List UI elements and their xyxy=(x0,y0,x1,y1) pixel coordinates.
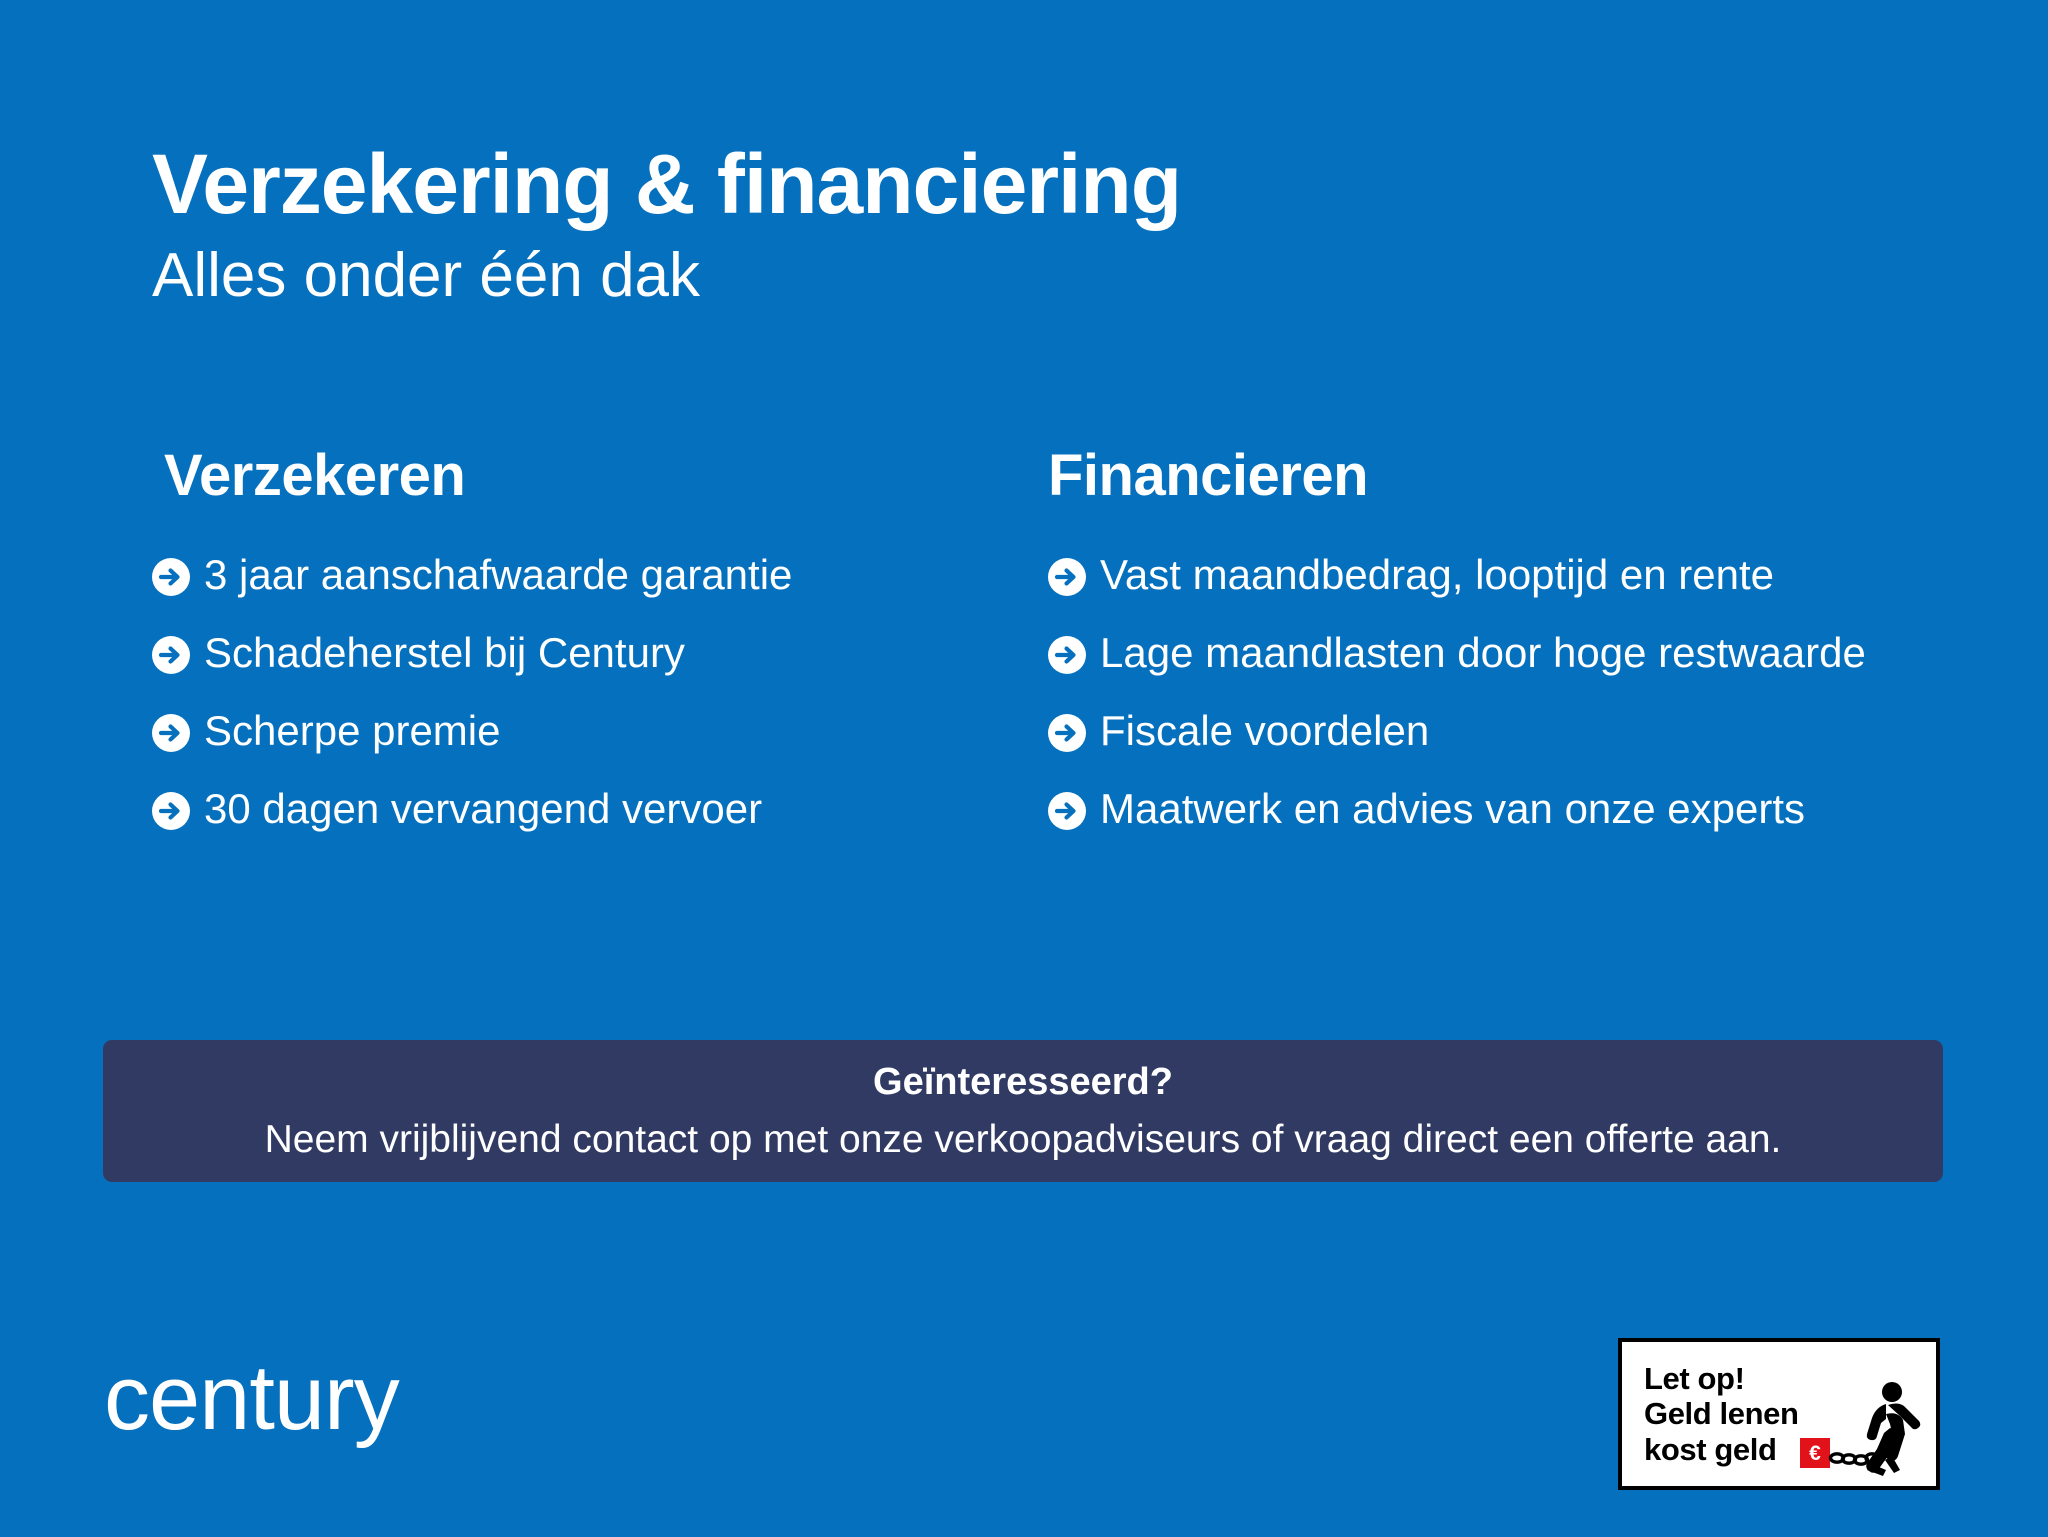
list-item: Scherpe premie xyxy=(152,709,900,753)
warning-badge: Let op! Geld lenen kost geld € xyxy=(1618,1338,1940,1490)
warning-badge-inner: Let op! Geld lenen kost geld € xyxy=(1622,1342,1936,1486)
bullet-list-verzekeren: 3 jaar aanschafwaarde garantie Schadeher… xyxy=(152,553,900,831)
arrow-circle-right-icon xyxy=(1048,792,1086,830)
arrow-circle-right-icon xyxy=(152,714,190,752)
century-logo: century xyxy=(104,1352,399,1444)
list-item: Vast maandbedrag, looptijd en rente xyxy=(1048,553,2048,597)
list-item-label: Schadeherstel bij Century xyxy=(204,631,685,675)
bullet-list-financieren: Vast maandbedrag, looptijd en rente Lage… xyxy=(1048,553,2048,831)
list-item: Lage maandlasten door hoge restwaarde xyxy=(1048,631,2048,675)
list-item: Maatwerk en advies van onze experts xyxy=(1048,787,2048,831)
column-financieren: Financieren Vast maandbedrag, looptijd e… xyxy=(900,442,2048,831)
feature-columns: Verzekeren 3 jaar aanschafwaarde garanti… xyxy=(0,442,2048,831)
chained-euro-walker-icon: € xyxy=(1800,1376,1928,1480)
cta-text: Neem vrijblijvend contact op met onze ve… xyxy=(265,1118,1782,1162)
list-item-label: Scherpe premie xyxy=(204,709,500,753)
warning-badge-text: Let op! Geld lenen kost geld xyxy=(1644,1361,1798,1467)
header: Verzekering & financiering Alles onder é… xyxy=(152,140,1912,311)
warning-line-2: Geld lenen xyxy=(1644,1396,1798,1431)
list-item: Fiscale voordelen xyxy=(1048,709,2048,753)
column-heading-verzekeren: Verzekeren xyxy=(152,442,900,509)
arrow-circle-right-icon xyxy=(1048,636,1086,674)
arrow-circle-right-icon xyxy=(152,792,190,830)
arrow-circle-right-icon xyxy=(152,636,190,674)
list-item-label: 30 dagen vervangend vervoer xyxy=(204,787,762,831)
cta-banner: Geïnteresseerd? Neem vrijblijvend contac… xyxy=(103,1040,1943,1182)
arrow-circle-right-icon xyxy=(152,558,190,596)
list-item-label: Vast maandbedrag, looptijd en rente xyxy=(1100,553,1774,597)
list-item: 30 dagen vervangend vervoer xyxy=(152,787,900,831)
column-heading-financieren: Financieren xyxy=(1048,442,2048,509)
svg-text:€: € xyxy=(1809,1442,1821,1465)
column-verzekeren: Verzekeren 3 jaar aanschafwaarde garanti… xyxy=(0,442,900,831)
warning-line-3: kost geld xyxy=(1644,1432,1798,1467)
slide-root: Verzekering & financiering Alles onder é… xyxy=(0,0,2048,1537)
list-item-label: Maatwerk en advies van onze experts xyxy=(1100,787,1805,831)
cta-title: Geïnteresseerd? xyxy=(873,1061,1173,1104)
list-item: 3 jaar aanschafwaarde garantie xyxy=(152,553,900,597)
list-item-label: 3 jaar aanschafwaarde garantie xyxy=(204,553,792,597)
arrow-circle-right-icon xyxy=(1048,558,1086,596)
page-subtitle: Alles onder één dak xyxy=(152,240,1912,311)
page-title: Verzekering & financiering xyxy=(152,140,1912,228)
arrow-circle-right-icon xyxy=(1048,714,1086,752)
list-item: Schadeherstel bij Century xyxy=(152,631,900,675)
list-item-label: Fiscale voordelen xyxy=(1100,709,1429,753)
warning-line-1: Let op! xyxy=(1644,1361,1798,1396)
list-item-label: Lage maandlasten door hoge restwaarde xyxy=(1100,631,1866,675)
